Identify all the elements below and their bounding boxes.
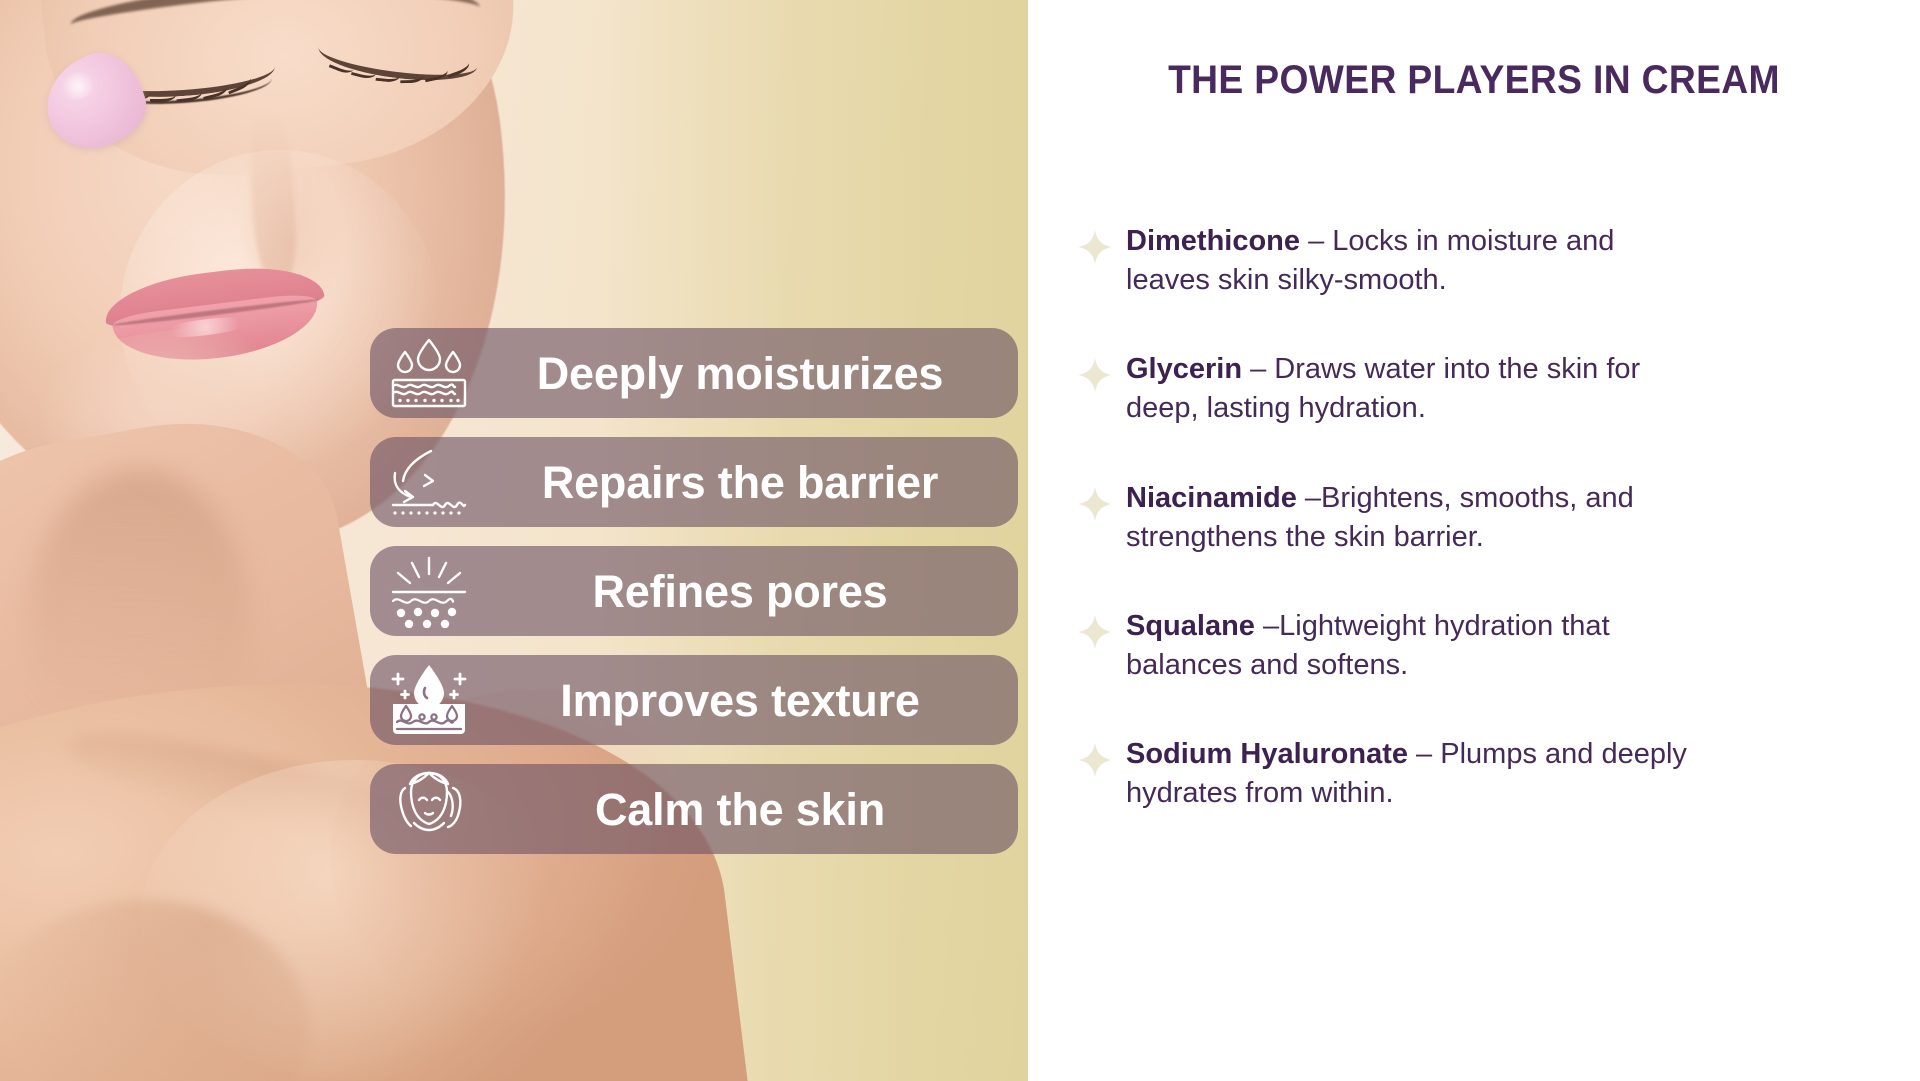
list-item: Sodium Hyaluronate – Plumps and deeply h…: [1064, 735, 1904, 813]
feature-pill-refines-pores[interactable]: Refines pores: [370, 546, 1018, 636]
ingredient-name: Dimethicone: [1126, 225, 1300, 257]
feature-pill-deeply-moisturizes[interactable]: Deeply moisturizes: [370, 328, 1018, 418]
list-item: Glycerin – Draws water into the skin for…: [1064, 350, 1904, 428]
sparkle-bullet-icon: [1064, 350, 1126, 392]
feature-pill-calm-the-skin[interactable]: Calm the skin: [370, 764, 1018, 854]
ingredient-name: Sodium Hyaluronate: [1126, 738, 1408, 770]
sparkle-bullet-icon: [1064, 479, 1126, 521]
feature-pill-label: Calm the skin: [488, 787, 1018, 832]
right-content-panel: THE POWER PLAYERS IN CREAM Dimethicone –…: [1028, 0, 1920, 1081]
ingredient-text: Sodium Hyaluronate – Plumps and deeply h…: [1126, 735, 1706, 813]
sparkle-bullet-icon: [1064, 222, 1126, 264]
eyelashes-right: [330, 40, 500, 90]
feature-pill-improves-texture[interactable]: Improves texture: [370, 655, 1018, 745]
ingredient-text: Glycerin – Draws water into the skin for…: [1126, 350, 1706, 428]
feature-pill-label: Refines pores: [488, 569, 1018, 614]
ingredient-text: Niacinamide –Brightens, smooths, and str…: [1126, 479, 1706, 557]
droplets-skin-icon: [370, 336, 488, 410]
ingredient-list: Dimethicone – Locks in moisture and leav…: [1064, 222, 1904, 863]
list-item: Squalane –Lightweight hydration that bal…: [1064, 607, 1904, 685]
ingredient-name: Squalane: [1126, 610, 1255, 642]
feature-pill-label: Deeply moisturizes: [488, 351, 1018, 396]
left-image-panel: Deeply moisturizes: [0, 0, 1028, 1081]
droplet-sparkle-skin-icon: [370, 662, 488, 738]
ingredient-text: Dimethicone – Locks in moisture and leav…: [1126, 222, 1706, 300]
page-title: THE POWER PLAYERS IN CREAM: [1059, 58, 1889, 103]
feature-pill-list: Deeply moisturizes: [370, 328, 1020, 873]
ingredient-name: Niacinamide: [1126, 482, 1297, 514]
feature-pill-label: Repairs the barrier: [488, 460, 1018, 505]
arrows-barrier-icon: [370, 445, 488, 519]
sparkle-bullet-icon: [1064, 735, 1126, 777]
slide-canvas: Deeply moisturizes: [0, 0, 1920, 1081]
calm-face-icon: [370, 770, 488, 848]
list-item: Niacinamide –Brightens, smooths, and str…: [1064, 479, 1904, 557]
feature-pill-label: Improves texture: [488, 678, 1018, 723]
sunburst-pores-icon: [370, 554, 488, 628]
ingredient-text: Squalane –Lightweight hydration that bal…: [1126, 607, 1706, 685]
feature-pill-repairs-barrier[interactable]: Repairs the barrier: [370, 437, 1018, 527]
sparkle-bullet-icon: [1064, 607, 1126, 649]
list-item: Dimethicone – Locks in moisture and leav…: [1064, 222, 1904, 300]
ingredient-name: Glycerin: [1126, 353, 1242, 385]
